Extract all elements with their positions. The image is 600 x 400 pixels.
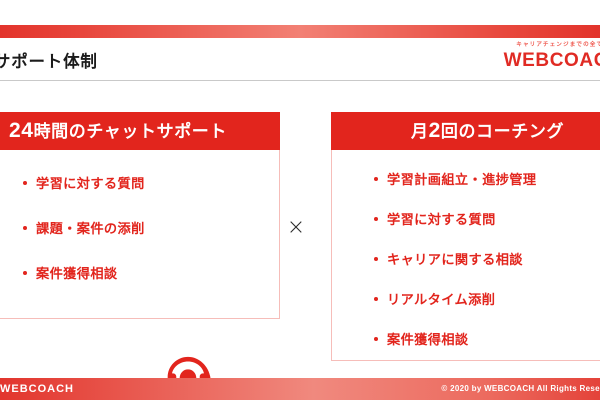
bullet-dot-icon xyxy=(374,297,378,301)
bullet-dot-icon xyxy=(374,177,378,181)
card-coaching-header-prefix: 月 xyxy=(411,122,429,141)
brand-logo: キャリアチェンジまでの全てを WEBCOACH xyxy=(488,40,600,72)
page-title: ーチのサポート体制 xyxy=(0,48,98,72)
brand-tagline: キャリアチェンジまでの全てを xyxy=(488,40,600,48)
list-item: 学習に対する質問 xyxy=(374,209,600,228)
list-item-label: 案件獲得相談 xyxy=(387,329,469,348)
slide-footer: WEBCOACH © 2020 by WEBCOACH All Rights R… xyxy=(0,378,600,400)
card-chat-support-header-text: 時間のチャットサポート xyxy=(34,122,227,141)
bullet-dot-icon xyxy=(23,271,27,275)
list-item-label: 学習に対する質問 xyxy=(36,173,145,192)
list-item: 課題・案件の添削 xyxy=(23,218,279,237)
bullet-dot-icon xyxy=(374,257,378,261)
list-item-label: リアルタイム添削 xyxy=(387,289,495,308)
list-item: 案件獲得相談 xyxy=(374,329,600,348)
footer-brand: WEBCOACH xyxy=(0,378,74,400)
card-chat-support-header-number: 24 xyxy=(9,119,34,142)
list-item-label: 学習計画組立・進捗管理 xyxy=(387,169,536,188)
card-coaching: 月2回のコーチング 学習計画組立・進捗管理 学習に対する質問 キャリアに関する相… xyxy=(331,112,600,361)
card-chat-support-header: 24時間のチャットサポート xyxy=(0,112,280,150)
multiply-separator-icon: × xyxy=(284,216,308,240)
slide-canvas: Support ーチのサポート体制 キャリアチェンジまでの全てを WEBCOAC… xyxy=(0,0,600,400)
list-item-label: キャリアに関する相談 xyxy=(387,249,523,268)
list-item-label: 学習に対する質問 xyxy=(387,209,496,228)
list-item-label: 課題・案件の添削 xyxy=(36,218,145,237)
list-item: 学習計画組立・進捗管理 xyxy=(374,169,600,188)
footer-copyright: © 2020 by WEBCOACH All Rights Reserved xyxy=(441,378,600,400)
header-divider xyxy=(0,80,600,81)
list-item: リアルタイム添削 xyxy=(374,289,600,308)
list-item-label: 案件獲得相談 xyxy=(36,263,118,282)
card-coaching-header: 月2回のコーチング xyxy=(331,112,600,150)
card-coaching-header-number: 2 xyxy=(429,119,441,142)
list-item: 学習に対する質問 xyxy=(23,173,279,192)
brand-name: WEBCOACH xyxy=(488,50,600,72)
list-item: キャリアに関する相談 xyxy=(374,249,600,268)
card-chat-support: 24時間のチャットサポート 学習に対する質問 課題・案件の添削 案件獲得相談 xyxy=(0,112,280,319)
card-coaching-header-text: 回のコーチング xyxy=(441,122,564,141)
card-coaching-bullet-list: 学習計画組立・進捗管理 学習に対する質問 キャリアに関する相談 リアルタイム添削… xyxy=(332,151,600,369)
card-chat-support-bullet-list: 学習に対する質問 課題・案件の添削 案件獲得相談 xyxy=(0,151,279,308)
top-accent-bar xyxy=(0,25,600,38)
list-item: 案件獲得相談 xyxy=(23,263,279,282)
bullet-dot-icon xyxy=(23,181,27,185)
bullet-dot-icon xyxy=(23,226,27,230)
bullet-dot-icon xyxy=(374,337,378,341)
bullet-dot-icon xyxy=(374,217,378,221)
